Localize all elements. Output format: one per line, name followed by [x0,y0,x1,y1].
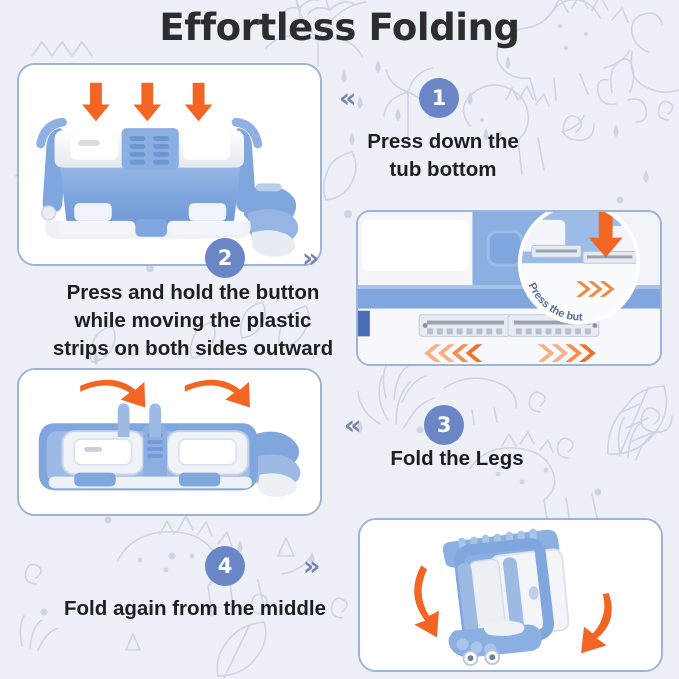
step-badge-2: 2 [205,238,245,278]
photo-card-step-4 [358,518,663,672]
step-badge-3: 3 [424,405,464,445]
photo-card-step-2: Press the button [356,210,662,366]
step-3-text: Fold the Legs [357,445,557,473]
step-1-text: Press down the tub bottom [338,128,548,184]
step-badge-1: 1 [419,78,459,118]
infographic-page: Effortless Folding [0,0,679,679]
chevron-right-icon: » [303,553,320,580]
page-title: Effortless Folding [0,6,679,49]
bathtub-flattened-fold-legs-image [19,370,320,516]
bathtub-folded-upright-image [360,520,661,672]
bathtub-button-closeup-image: Press the button [358,212,660,366]
chevron-left-icon: « [339,85,356,112]
step-2-text: Press and hold the button while moving t… [48,279,338,363]
chevron-left-icon: « [344,412,361,439]
step-badge-4: 4 [205,546,245,586]
chevron-right-icon: » [302,245,319,272]
photo-card-step-3 [17,368,322,516]
photo-card-step-1 [17,63,322,266]
bathtub-upright-press-down-image [19,65,320,265]
step-4-text: Fold again from the middle [55,595,335,623]
